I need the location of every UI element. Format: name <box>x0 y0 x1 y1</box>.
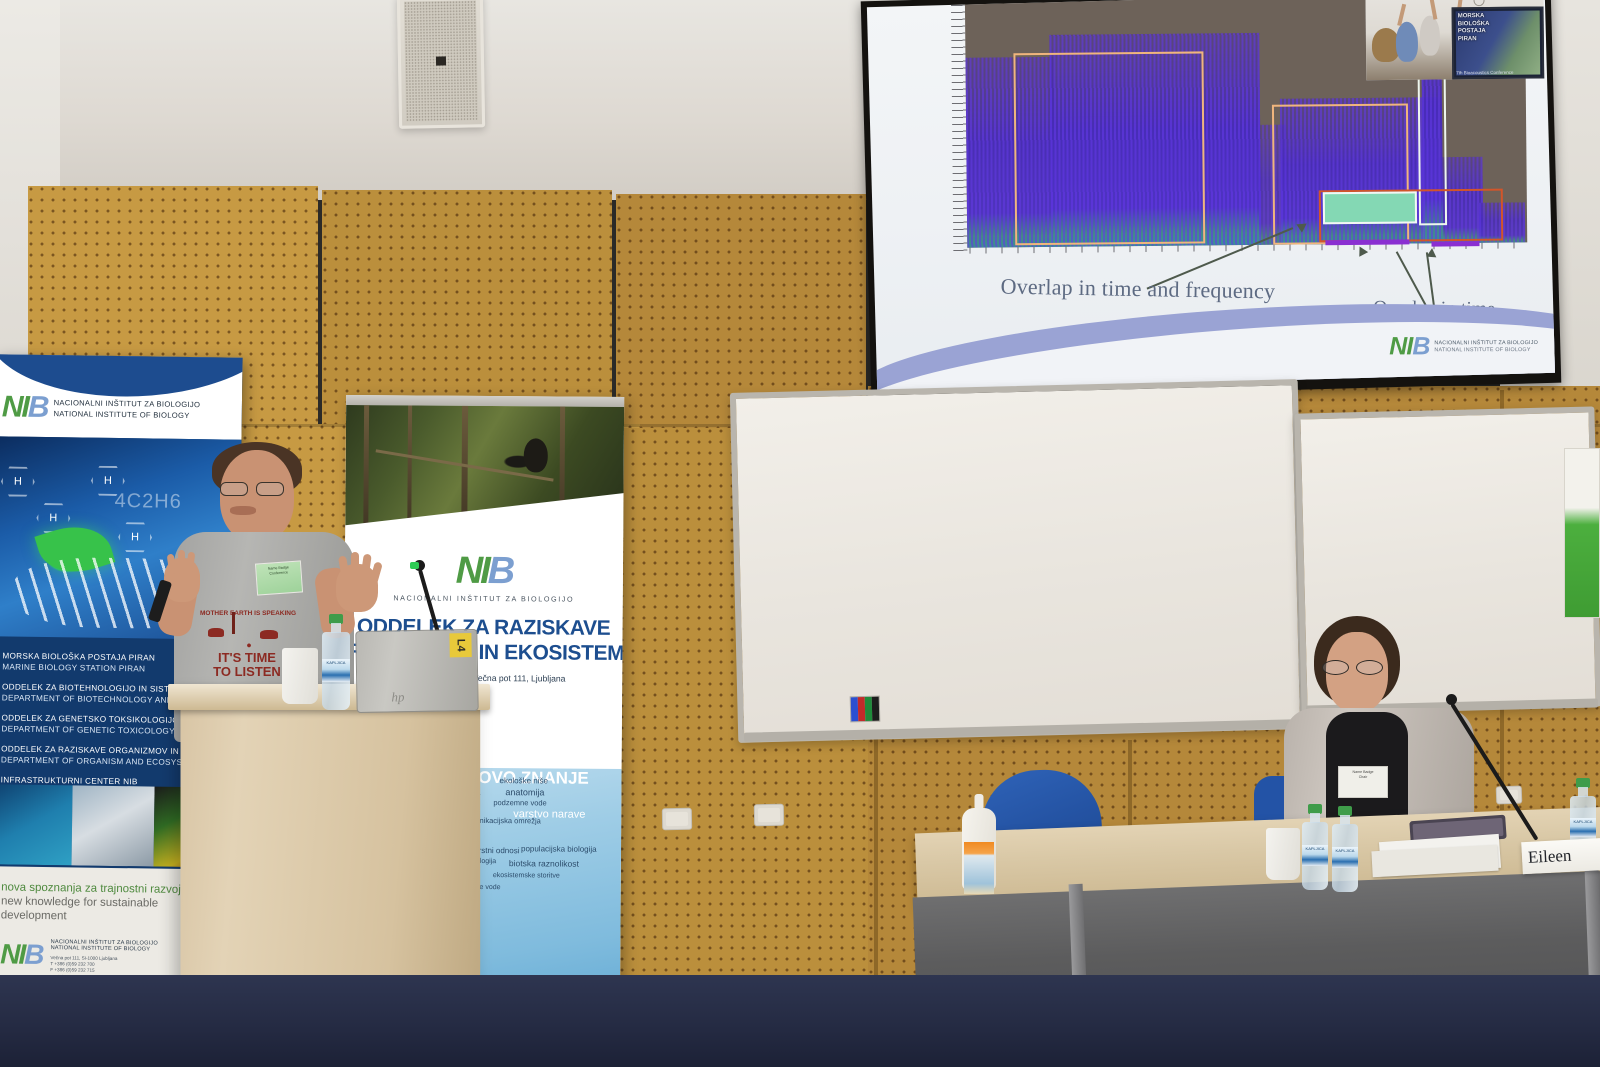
hand-sanitizer-bottle <box>962 794 996 890</box>
tshirt-animal-icon-1 <box>208 628 224 637</box>
hexagon-icon-4: H <box>118 522 152 552</box>
paper-cup-podium <box>282 648 318 704</box>
wall-outlet-left-face <box>666 812 688 826</box>
panelist-name-badge: Name Badge Chair <box>1338 766 1388 798</box>
banner-left-logo-line2: NATIONAL INSTITUTE OF BIOLOGY <box>53 408 200 421</box>
bottle-label: KAPLJICA <box>1570 818 1596 837</box>
marker-black <box>872 697 880 721</box>
glasses-lens-left <box>220 482 248 496</box>
wordcloud-item: ekosistemske storitve <box>493 872 560 879</box>
bottle-label: KAPLJICA <box>322 659 350 682</box>
water-bottle-table-2: KAPLJICA <box>1332 806 1358 892</box>
nib-wordmark-icon: NIB <box>2 390 48 425</box>
time-overlap-bar-a <box>1325 239 1409 245</box>
wordcloud-item: podzemne vode <box>493 798 546 807</box>
nib-letter-b: B <box>28 391 48 424</box>
video-conference-overlay: MORSKA BIOLOŠKA POSTAJA PIRAN 7th Bioaco… <box>1365 0 1544 80</box>
slide-nib-line2: NATIONAL INSTITUTE OF BIOLOGY <box>1435 347 1539 354</box>
pip-attendee-3 <box>1420 15 1440 55</box>
time-overlap-bar-b <box>1431 241 1479 246</box>
glasses-lens-right <box>256 482 284 496</box>
panelist-nameplate: Eileen <box>1521 838 1600 874</box>
tshirt-text-line1: MOTHER EARTH IS SPEAKING <box>188 610 308 617</box>
bottle-label: KAPLJICA <box>1332 847 1358 867</box>
water-bottle-podium: KAPLJICA <box>322 614 350 710</box>
nib-letter-n: N <box>456 550 481 592</box>
panelist-badge-line1: Name Badge <box>1353 770 1374 774</box>
bottle-body: KAPLJICA <box>1332 824 1358 892</box>
whiteboard-markers <box>850 696 881 723</box>
nib-letter-b: B <box>24 939 43 970</box>
slide-label-overlap-time-frequency: Overlap in time and frequency <box>1000 273 1275 304</box>
pip-screen-line-3: POSTAJA <box>1458 28 1490 36</box>
nib-letter-n: N <box>1390 332 1407 360</box>
arrow-head-overlap-t-b <box>1426 248 1437 258</box>
wall-outlet-left <box>662 808 692 831</box>
floor <box>0 975 1600 1067</box>
whiteboard-left <box>730 379 1306 743</box>
nib-letter-n: N <box>2 390 22 423</box>
hexagon-icon-1: H <box>1 466 35 496</box>
panelist-glasses-icon <box>1322 660 1392 675</box>
presenter-right-finger-4 <box>369 561 383 584</box>
pip-screen-line-4: PIRAN <box>1458 36 1490 44</box>
bottle-label: KAPLJICA <box>1302 845 1328 865</box>
presenter-left-finger-2 <box>178 550 185 574</box>
photo-lab <box>71 785 154 866</box>
tshirt-tree-icon <box>232 612 235 634</box>
pegboard-panel-2 <box>322 190 612 430</box>
wordcloud-item: populacijska biologija <box>521 844 597 854</box>
panelist-badge-line2: Chair <box>1359 775 1368 779</box>
banner-left-header: NIB NACIONALNI INŠTITUT ZA BIOLOGIJO NAT… <box>0 354 243 439</box>
presenter-head <box>220 450 294 542</box>
banner-left-logo-text: NACIONALNI INŠTITUT ZA BIOLOGIJO NATIONA… <box>53 397 200 421</box>
presenter-badge-line2: Conference <box>269 570 288 575</box>
laptop-brand-logo: hp <box>391 689 404 705</box>
presentation-slide: Overlap in time and frequency Overlap in… <box>867 0 1555 391</box>
tshirt-animal-icon-2 <box>260 630 278 639</box>
laptop-sticker: L4 <box>449 633 471 657</box>
slide-nib-logo: NIB NACIONALNI INŠTITUT ZA BIOLOGIJO NAT… <box>1390 332 1539 361</box>
table-microphone-head <box>1446 694 1457 705</box>
presenter-laptop: hp L4 <box>355 629 478 713</box>
wordcloud-item: anatomija <box>505 787 544 797</box>
wall-outlet-right-face <box>758 808 780 822</box>
signal-box-1 <box>1013 51 1205 245</box>
side-poster <box>1564 448 1600 618</box>
pip-attendee-2 <box>1396 22 1418 62</box>
glasses-lens-right <box>1356 660 1383 675</box>
wall-outlet-right <box>754 804 784 827</box>
presenter-mouth <box>230 506 256 515</box>
presenter-glasses-icon <box>220 482 296 496</box>
nib-letter-n: N <box>0 938 19 969</box>
lecture-hall-scene: Overlap in time and frequency Overlap in… <box>0 0 1600 1067</box>
overlap-region-teal <box>1323 191 1417 224</box>
pip-remote-screen: MORSKA BIOLOŠKA POSTAJA PIRAN 7th Bioaco… <box>1452 6 1545 79</box>
speaker-brand-logo <box>436 56 446 65</box>
nib-wordmark-icon: NIB <box>1390 332 1430 361</box>
owl-icon <box>524 438 548 472</box>
nib-wordmark-icon: NIB <box>0 938 43 971</box>
paper-cup-stack-table <box>1266 828 1300 880</box>
pip-remote-screen-text: MORSKA BIOLOŠKA POSTAJA PIRAN <box>1458 13 1490 43</box>
projection-screen: Overlap in time and frequency Overlap in… <box>861 0 1562 401</box>
photo-fish <box>0 784 73 865</box>
podium-microphone-led <box>410 562 419 569</box>
nib-letter-b: B <box>1413 332 1430 360</box>
bottle-body: KAPLJICA <box>322 632 350 710</box>
wordcloud-item: biotska raznolikost <box>509 858 579 868</box>
water-bottle-table-1: KAPLJICA <box>1302 804 1328 890</box>
wordcloud-item: ekološke niše <box>499 776 548 785</box>
presenter-name-badge: Name Badge Conference <box>255 560 303 595</box>
slide-nib-logo-text: NACIONALNI INŠTITUT ZA BIOLOGIJO NATIONA… <box>1435 340 1539 354</box>
presenter-right-finger-2 <box>351 552 359 580</box>
sanitizer-label <box>964 842 994 894</box>
nib-wordmark-icon: NIB <box>456 550 513 593</box>
banner-left-logo: NIB NACIONALNI INŠTITUT ZA BIOLOGIJO NAT… <box>2 390 201 427</box>
pip-caption: 7th Bioacoustics Conference <box>1456 70 1540 76</box>
footer-logo-line2: NATIONAL INSTITUTE OF BIOLOGY <box>51 945 158 952</box>
ceiling-speaker <box>397 0 485 129</box>
bottle-body: KAPLJICA <box>1302 822 1328 890</box>
glasses-lens-left <box>1322 660 1349 675</box>
nib-letter-b: B <box>488 550 513 592</box>
